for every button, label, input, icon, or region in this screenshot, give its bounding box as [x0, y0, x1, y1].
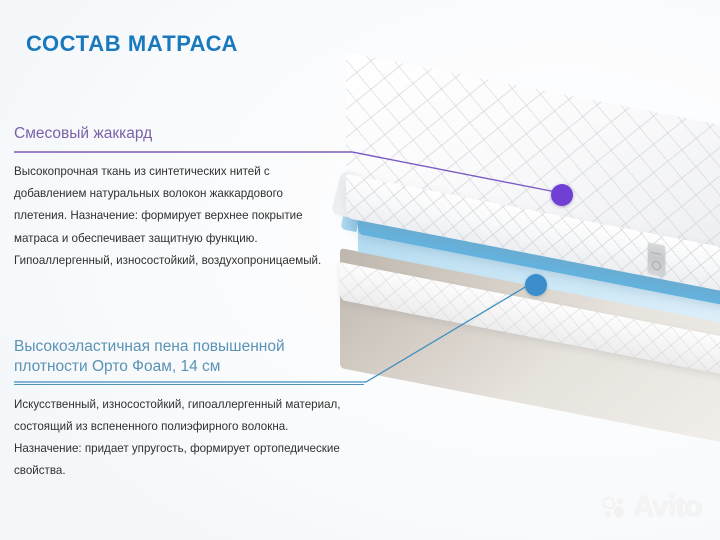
- mattress-illustration: [330, 60, 720, 420]
- fabric-care-tag-icon: [648, 242, 665, 275]
- page-title: СОСТАВ МАТРАСА: [26, 31, 238, 57]
- divider-jacquard: [14, 151, 350, 152]
- callout-block-jacquard: Смесовый жаккард Высокопрочная ткань из …: [14, 124, 350, 272]
- callout-heading-foam: Высокоэластичная пена повышенной плотнос…: [14, 337, 364, 377]
- marker-dot-jacquard[interactable]: [551, 184, 573, 206]
- mattress-layer-quilted-cover: [346, 52, 720, 242]
- avito-watermark: Avito: [602, 491, 702, 524]
- marker-dot-foam[interactable]: [525, 274, 547, 296]
- callout-body-foam: Искусственный, износостойкий, гипоаллерг…: [14, 394, 364, 483]
- callout-heading-jacquard: Смесовый жаккард: [14, 124, 350, 144]
- divider-foam: [14, 384, 364, 385]
- avito-watermark-text: Avito: [633, 491, 702, 524]
- callout-block-foam: Высокоэластичная пена повышенной плотнос…: [14, 337, 364, 483]
- avito-dots-icon: [602, 495, 628, 521]
- callout-body-jacquard: Высокопрочная ткань из синтетических нит…: [14, 161, 350, 272]
